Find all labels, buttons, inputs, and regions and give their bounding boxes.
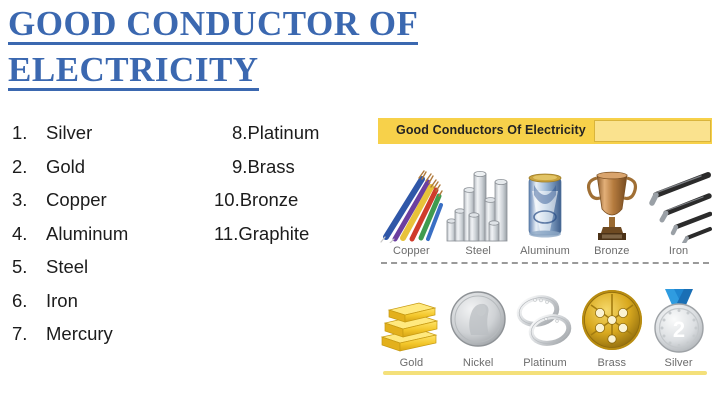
list-item-label: Platinum xyxy=(247,116,319,150)
aluminum-can-icon xyxy=(512,165,578,243)
infographic-item-label: Silver xyxy=(665,357,693,369)
page-title-line-1: GOOD CONDUCTOR OF xyxy=(8,4,418,45)
infographic-divider xyxy=(381,262,709,264)
list-item-number: 8. xyxy=(232,116,247,150)
list-item: 1. Silver xyxy=(12,116,128,150)
infographic-item-bronze: Bronze xyxy=(578,149,645,257)
list-item-number: 2. xyxy=(12,150,46,184)
list-item: 5. Steel xyxy=(12,250,128,284)
infographic-bottom-row: Gold Nickel xyxy=(378,271,712,369)
list-item-number: 1. xyxy=(12,116,46,150)
list-item-label: Copper xyxy=(46,183,107,217)
bronze-trophy-icon xyxy=(579,165,645,243)
list-item-number: 11. xyxy=(214,217,238,251)
infographic-item-iron: Iron xyxy=(645,149,712,257)
list-item: 4. Aluminum xyxy=(12,217,128,251)
silver-medal-number: 2 xyxy=(672,317,684,342)
list-item: 6. Iron xyxy=(12,284,128,318)
nickel-coin-icon xyxy=(445,287,511,355)
list-item-number: 4. xyxy=(12,217,46,251)
list-item-label: Silver xyxy=(46,116,92,150)
list-item-label: Mercury xyxy=(46,317,113,351)
infographic-item-steel: Steel xyxy=(445,149,512,257)
infographic-item-nickel: Nickel xyxy=(445,271,512,369)
infographic-item-label: Gold xyxy=(400,357,424,369)
list-item: 3. Copper xyxy=(12,183,128,217)
list-item-number: 5. xyxy=(12,250,46,284)
infographic-item-label: Nickel xyxy=(463,357,494,369)
steel-pipes-icon xyxy=(445,165,511,243)
list-item-label: Steel xyxy=(46,250,88,284)
iron-hex-keys-icon xyxy=(646,165,712,243)
list-item-number: 7. xyxy=(12,317,46,351)
infographic-top-row: Copper xyxy=(378,149,712,257)
list-item-label: Graphite xyxy=(238,217,309,251)
infographic-item-label: Iron xyxy=(669,245,688,257)
copper-wires-icon xyxy=(378,165,444,243)
infographic-item-label: Aluminum xyxy=(520,245,570,257)
gold-bars-icon xyxy=(378,287,444,355)
list-item-label: Bronze xyxy=(240,183,299,217)
infographic-item-label: Bronze xyxy=(594,245,629,257)
banner-highlight-box xyxy=(594,120,711,142)
platinum-rings-icon xyxy=(512,287,578,355)
list-item: 10. Bronze xyxy=(214,183,319,217)
infographic-item-label: Copper xyxy=(393,245,430,257)
infographic-item-gold: Gold xyxy=(378,271,445,369)
list-item: 11. Graphite xyxy=(214,217,319,251)
infographic-item-silver: 2 Silver xyxy=(645,271,712,369)
conductor-list-left-column: 1. Silver 2. Gold 3. Copper 4. Aluminum … xyxy=(12,116,128,351)
brass-gear-icon xyxy=(579,287,645,355)
infographic-banner: Good Conductors Of Electricity xyxy=(378,118,712,144)
list-item-number: 10. xyxy=(214,183,240,217)
infographic-item-copper: Copper xyxy=(378,149,445,257)
infographic-item-platinum: Platinum xyxy=(512,271,579,369)
page-title: GOOD CONDUCTOR OF ELECTRICITY xyxy=(8,0,528,91)
list-item: 9. Brass xyxy=(214,150,319,184)
infographic-item-label: Steel xyxy=(465,245,491,257)
list-item-label: Gold xyxy=(46,150,85,184)
list-item-number: 9. xyxy=(232,150,247,184)
list-item-number: 6. xyxy=(12,284,46,318)
infographic-item-label: Brass xyxy=(597,357,626,369)
infographic-item-label: Platinum xyxy=(523,357,567,369)
list-item: 8. Platinum xyxy=(214,116,319,150)
conductor-list-right-column: 8. Platinum 9. Brass 10. Bronze 11. Grap… xyxy=(214,116,319,250)
silver-medal-icon: 2 xyxy=(646,287,712,355)
list-item-label: Iron xyxy=(46,284,78,318)
list-item-number: 3. xyxy=(12,183,46,217)
list-item: 2. Gold xyxy=(12,150,128,184)
infographic-item-brass: Brass xyxy=(578,271,645,369)
infographic-banner-title: Good Conductors Of Electricity xyxy=(396,123,586,137)
list-item-label: Aluminum xyxy=(46,217,128,251)
page-title-line-2: ELECTRICITY xyxy=(8,50,259,91)
conductors-infographic: Good Conductors Of Electricity xyxy=(375,113,715,381)
list-item: 7. Mercury xyxy=(12,317,128,351)
list-item-label: Brass xyxy=(247,150,294,184)
infographic-bottom-bar xyxy=(383,371,707,375)
infographic-item-aluminum: Aluminum xyxy=(512,149,579,257)
